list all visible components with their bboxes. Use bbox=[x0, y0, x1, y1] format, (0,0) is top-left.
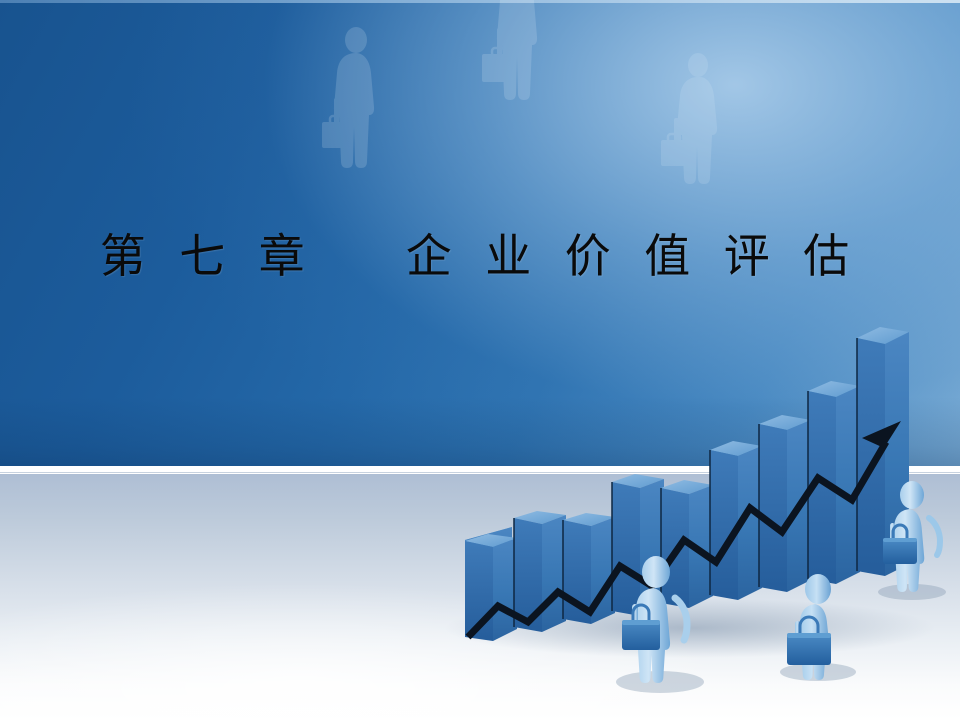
floor-light-sheen bbox=[0, 473, 960, 720]
ghost-businessman-right-icon bbox=[652, 52, 738, 194]
ghost-businessman-left-icon bbox=[316, 26, 400, 184]
slide-title: 第 七 章 企 业 价 值 评 估 bbox=[0, 228, 960, 286]
ghost-businessman-center-icon bbox=[478, 0, 560, 118]
presentation-slide: 第 七 章 企 业 价 值 评 估 bbox=[0, 0, 960, 720]
panel-floor-hairline bbox=[0, 472, 960, 473]
panel-bottom-shadow bbox=[0, 397, 960, 467]
